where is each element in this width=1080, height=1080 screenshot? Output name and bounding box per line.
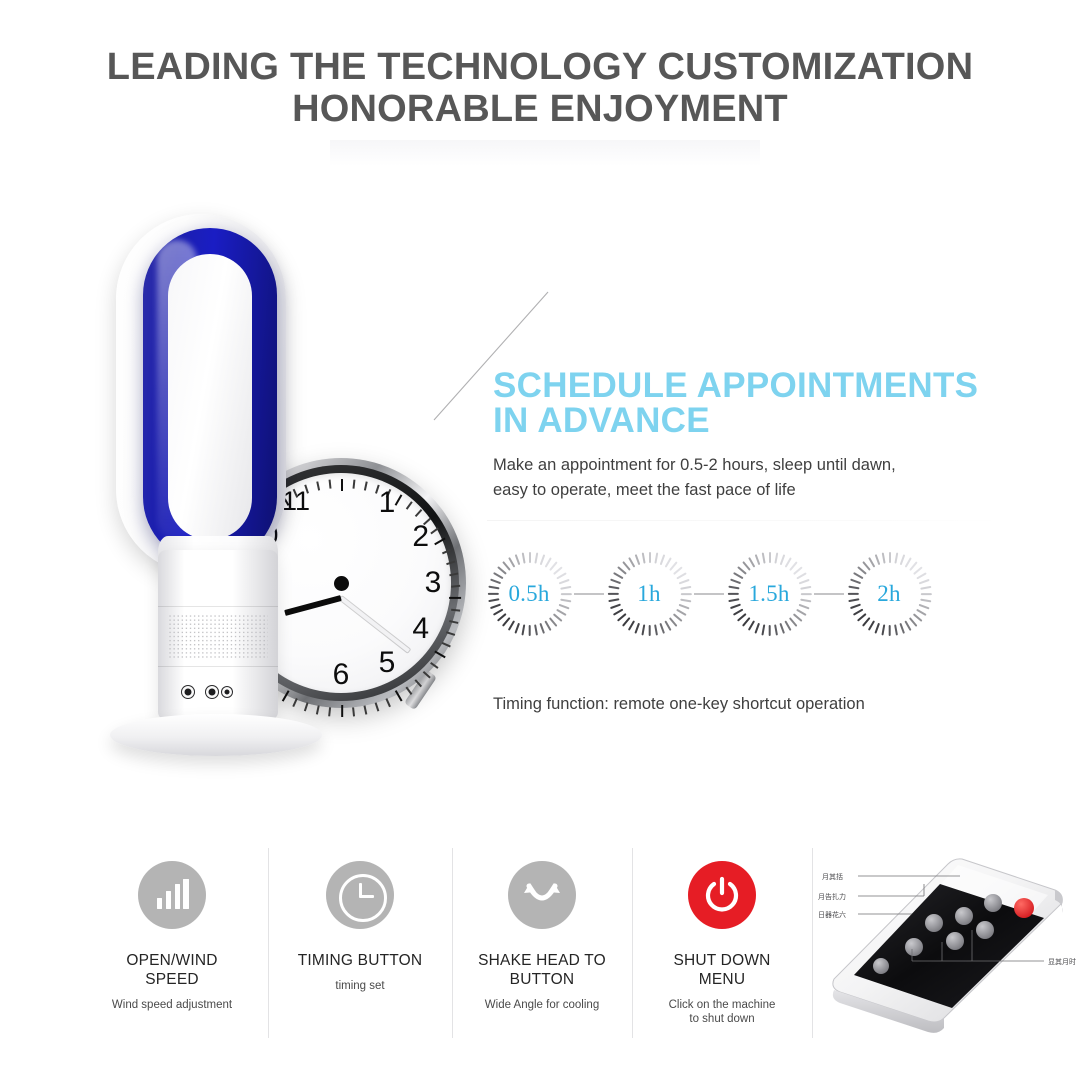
bar (183, 879, 188, 909)
feature-body-line1: Make an appointment for 0.5-2 hours, sle… (493, 453, 963, 478)
fan-control-port-2 (206, 686, 218, 698)
timer-option-1.5h[interactable]: 1.5h (727, 548, 811, 640)
remote-control-image: 月其括 月告扎力 日器花六 显其月时 (812, 846, 1080, 1046)
feature-item-3[interactable]: SHAKE HEAD TOBUTTONWide Angle for coolin… (452, 843, 632, 1058)
feature-title: SHAKE HEAD TOBUTTON (452, 951, 632, 989)
feature-subtitle-line1: timing set (270, 979, 450, 993)
remote-button-2[interactable] (955, 907, 973, 925)
timer-label: 1.5h (727, 548, 811, 640)
fan-body-seam-upper (158, 606, 278, 607)
remote-callout-2: 月告扎力 (818, 892, 846, 901)
clock-glyph (339, 874, 387, 922)
feature-subtitle-line1: Wide Angle for cooling (452, 998, 632, 1012)
clock-center-pin (334, 576, 349, 591)
feature-title: OPEN/WINDSPEED (82, 951, 262, 989)
feature-body-text: Make an appointment for 0.5-2 hours, sle… (493, 453, 963, 503)
clock-numeral: 4 (408, 614, 434, 644)
feature-subtitle-line2: to shut down (632, 1012, 812, 1026)
product-infographic-page: LEADING THE TECHNOLOGY CUSTOMIZATION HON… (0, 0, 1080, 1080)
remote-callout-1: 月其括 (822, 872, 843, 881)
fan-body-seam-lower (158, 666, 278, 667)
clock-tick (406, 501, 413, 509)
timing-note: Timing function: remote one-key shortcut… (493, 693, 1013, 715)
power-icon (688, 861, 756, 929)
clock-numeral: 3 (420, 568, 446, 598)
timer-connector (814, 593, 844, 595)
page-title-line2: HONORABLE ENJOYMENT (0, 88, 1080, 130)
bar (166, 891, 171, 909)
feature-title-line1: TIMING BUTTON (270, 951, 450, 970)
clock-tick (353, 480, 356, 489)
feature-subtitle: Click on the machineto shut down (632, 998, 812, 1026)
feature-heading: SCHEDULE APPOINTMENTS IN ADVANCE (493, 368, 1013, 438)
feature-heading-line1: SCHEDULE APPOINTMENTS (493, 368, 1013, 403)
timer-option-0.5h[interactable]: 0.5h (487, 548, 571, 640)
clock-tick (341, 479, 343, 491)
clock-numeral: 1 (374, 488, 400, 518)
bar-chart-bars (157, 879, 189, 909)
page-title: LEADING THE TECHNOLOGY CUSTOMIZATION HON… (0, 46, 1080, 130)
feature-body-line2: easy to operate, meet the fast pace of l… (493, 478, 963, 503)
clock-tick (316, 705, 319, 714)
timer-label: 0.5h (487, 548, 571, 640)
header-background-wash (330, 140, 760, 166)
clock-icon (326, 861, 394, 929)
feature-subtitle: timing set (270, 979, 450, 993)
feature-title-line2: MENU (632, 970, 812, 989)
clock-tick (415, 509, 422, 517)
timer-option-2h[interactable]: 2h (847, 548, 931, 640)
bar-chart-icon (138, 861, 206, 929)
clock-tick (375, 702, 379, 711)
feature-title: SHUT DOWNMENU (632, 951, 812, 989)
oscillate-glyph (522, 879, 562, 911)
timer-label: 1h (607, 548, 691, 640)
remote-button-7[interactable] (873, 958, 889, 974)
feature-title-line1: OPEN/WIND (82, 951, 262, 970)
feature-heading-line2: IN ADVANCE (493, 403, 1013, 438)
bar (175, 884, 180, 909)
fan-control-port-1 (182, 686, 194, 698)
remote-button-1[interactable] (984, 894, 1002, 912)
feature-title-line1: SHAKE HEAD TO (452, 951, 632, 970)
clock-numeral: 6 (328, 660, 354, 690)
fan-control-port-3 (222, 687, 232, 697)
timer-connector (694, 593, 724, 595)
feature-title-line1: SHUT DOWN (632, 951, 812, 970)
remote-power-button[interactable] (1014, 898, 1034, 918)
feature-item-4[interactable]: SHUT DOWNMENUClick on the machineto shut… (632, 843, 812, 1058)
timer-label: 2h (847, 548, 931, 640)
feature-subtitle-line1: Click on the machine (632, 998, 812, 1012)
remote-callout-3: 日器花六 (818, 910, 846, 919)
feature-subtitle: Wind speed adjustment (82, 998, 262, 1012)
clock-tick (386, 698, 391, 707)
feature-title: TIMING BUTTON (270, 951, 450, 970)
feature-title-line2: SPEED (82, 970, 262, 989)
clock-tick (341, 705, 343, 717)
oscillate-arrows-icon (508, 861, 576, 929)
clock-numeral: 5 (374, 648, 400, 678)
feature-subtitle: Wide Angle for cooling (452, 998, 632, 1012)
clock-tick (329, 480, 332, 489)
timer-options-row: 0.5h1h1.5h2h (487, 548, 927, 640)
timer-option-1h[interactable]: 1h (607, 548, 691, 640)
fan-air-intake-mesh (168, 614, 268, 658)
page-title-line1: LEADING THE TECHNOLOGY CUSTOMIZATION (107, 46, 973, 88)
remote-callout-4: 显其月时 (1048, 957, 1076, 966)
feature-item-2[interactable]: TIMING BUTTONtiming set (270, 843, 450, 1058)
fan-loop-opening (168, 254, 252, 540)
bar (157, 898, 162, 909)
product-photo: 1234561011 (96, 214, 426, 800)
clock-tick (329, 707, 332, 716)
power-glyph (705, 876, 739, 914)
clock-minute-hand (340, 596, 410, 652)
clock-numeral: 2 (408, 522, 434, 552)
bladeless-fan-image (96, 214, 310, 774)
feature-divider-1 (268, 848, 269, 1038)
fan-base-plate (110, 714, 322, 756)
clock-tick (316, 481, 319, 490)
clock-tick (353, 707, 356, 716)
remote-button-6[interactable] (905, 938, 923, 956)
clock-tick (364, 705, 367, 714)
remote-button-5[interactable] (946, 932, 964, 950)
feature-title-line2: BUTTON (452, 970, 632, 989)
clock-tick (449, 597, 461, 599)
feature-item-1[interactable]: OPEN/WINDSPEEDWind speed adjustment (82, 843, 262, 1058)
section-divider (487, 520, 1007, 521)
clock-tick (364, 481, 367, 490)
timer-connector (574, 593, 604, 595)
feature-subtitle-line1: Wind speed adjustment (82, 998, 262, 1012)
remote-button-4[interactable] (925, 914, 943, 932)
remote-button-3[interactable] (976, 921, 994, 939)
